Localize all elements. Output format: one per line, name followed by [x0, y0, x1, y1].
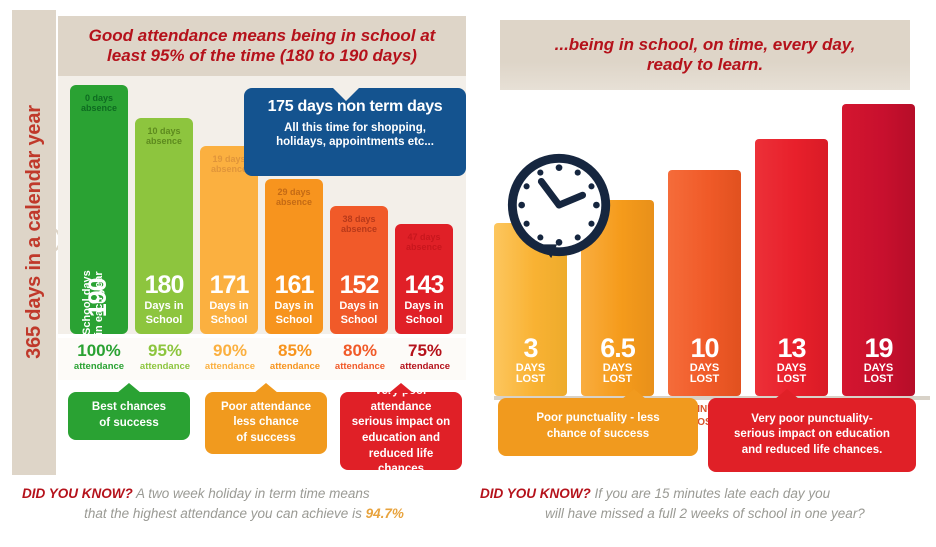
punctuality-bar-19: 19 DAYS LOST	[842, 104, 915, 396]
left-dyk-line1: A two week holiday in term time means	[136, 486, 370, 501]
right-heading-line1: ...being in school, on time, every day,	[555, 35, 856, 55]
attendance-bar-chart: 0 days absence School days in each year …	[58, 76, 466, 334]
days-lost-unit-10: DAYS LOST	[690, 363, 720, 386]
absence-label-190: 0 days absence	[81, 93, 117, 114]
absence-label-161: 29 days absence	[276, 187, 312, 208]
calendar-year-sidebar: 365 days in a calendar year	[12, 10, 56, 475]
callout-best-line1: Best chances	[92, 400, 166, 416]
left-panel-heading: Good attendance means being in school at…	[58, 16, 466, 76]
bar-value-152: 152 Days in School	[330, 274, 388, 326]
bar-value-143: 143 Days in School	[395, 274, 453, 326]
absence-label-180: 10 days absence	[146, 126, 182, 147]
callout-vpoor-line2: serious impact on	[346, 415, 456, 431]
punctuality-bar-10: 10 DAYS LOST	[668, 170, 741, 396]
absence-label-171: 19 days absence	[211, 154, 247, 175]
days-lost-value-3: 3	[523, 336, 537, 360]
days-lost-unit-13: DAYS LOST	[777, 363, 807, 386]
right-dyk-line2: will have missed a full 2 weeks of schoo…	[545, 506, 865, 521]
clock-icon	[502, 148, 620, 266]
non-term-days-line2: holidays, appointments etc...	[252, 135, 458, 149]
right-dyk-line1: If you are 15 minutes late each day you	[595, 486, 831, 501]
bar-value-171: 171 Days in School	[200, 274, 258, 326]
attendance-percent-75: 75% attendance	[386, 342, 464, 372]
callout-vpoor-punc-line1: Very poor punctuality-	[734, 412, 890, 428]
attendance-bar-180: 10 days absence 180 Days in School	[135, 118, 193, 334]
left-heading-line2: least 95% of the time (180 to 190 days)	[107, 46, 417, 66]
callout-poor-line1: Poor attendance	[221, 400, 311, 416]
right-dyk-label: DID YOU KNOW?	[480, 486, 591, 501]
days-lost-unit-65: DAYS LOST	[603, 363, 633, 386]
non-term-days-line1: All this time for shopping,	[252, 121, 458, 135]
days-lost-value-19: 19	[864, 336, 892, 360]
infographic-root: 365 days in a calendar year Good attenda…	[0, 0, 936, 547]
bar-value-180: 180 Days in School	[135, 274, 193, 326]
left-dyk-label: DID YOU KNOW?	[22, 486, 133, 501]
attendance-percent-strip: 100% attendance 95% attendance 90% atten…	[58, 338, 466, 380]
left-dyk-line2: that the highest attendance you can achi…	[84, 506, 365, 521]
callout-vpoor-punc-line2: serious impact on education	[734, 427, 890, 443]
callout-poor-punc-line2: chance of success	[536, 427, 659, 443]
days-lost-unit-19: DAYS LOST	[864, 363, 894, 386]
absence-label-152: 38 days absence	[341, 214, 377, 235]
callout-very-poor-attendance: Very poor attendance serious impact on e…	[340, 392, 462, 470]
callout-very-poor-punctuality: Very poor punctuality- serious impact on…	[708, 398, 916, 472]
bar-value-161: 161 Days in School	[265, 274, 323, 326]
callout-poor-line2: less chance	[221, 415, 311, 431]
days-lost-value-13: 13	[777, 336, 805, 360]
left-did-you-know: DID YOU KNOW? A two week holiday in term…	[22, 484, 466, 523]
non-term-days-title: 175 days non term days	[252, 98, 458, 116]
attendance-bar-152: 38 days absence 152 Days in School	[330, 206, 388, 334]
callout-poor-attendance: Poor attendance less chance of success	[205, 392, 327, 454]
non-term-days-callout: 175 days non term days All this time for…	[244, 88, 466, 176]
attendance-bar-143: 47 days absence 143 Days in School	[395, 224, 453, 334]
punctuality-bar-chart: 3 DAYS LOST 6.5 DAYS LOST 10 DAYS LOST	[480, 60, 926, 335]
days-lost-value-10: 10	[690, 336, 718, 360]
left-panel-attendance: 365 days in a calendar year Good attenda…	[0, 0, 470, 547]
days-lost-value-65: 6.5	[600, 336, 635, 360]
right-did-you-know: DID YOU KNOW? If you are 15 minutes late…	[480, 484, 930, 523]
callout-best-chances: Best chances of success	[68, 392, 190, 440]
callout-best-line2: of success	[92, 416, 166, 432]
attendance-bar-190: 0 days absence School days in each year …	[70, 85, 128, 334]
punctuality-bar-13: 13 DAYS LOST	[755, 139, 828, 396]
callout-vpoor-line4: reduced life chances	[346, 447, 456, 478]
callout-poor-line3: of success	[221, 431, 311, 447]
callout-vpoor-line3: education and	[346, 431, 456, 447]
callout-notch-icon	[117, 383, 141, 393]
callout-vpoor-punc-line3: and reduced life chances.	[734, 443, 890, 459]
absence-label-143: 47 days absence	[406, 232, 442, 253]
callout-notch-icon	[254, 383, 278, 393]
callout-poor-punctuality: Poor punctuality - less chance of succes…	[498, 398, 698, 456]
calendar-year-label: 365 days in a calendar year	[12, 12, 56, 452]
left-heading-line1: Good attendance means being in school at	[89, 26, 436, 46]
attendance-bar-161: 29 days absence 161 Days in School	[265, 179, 323, 334]
left-dyk-highlight: 94.7%	[366, 506, 404, 521]
right-panel-punctuality: ...being in school, on time, every day, …	[470, 0, 936, 547]
callout-poor-punc-line1: Poor punctuality - less	[536, 411, 659, 427]
days-lost-unit-3: DAYS LOST	[516, 363, 546, 386]
